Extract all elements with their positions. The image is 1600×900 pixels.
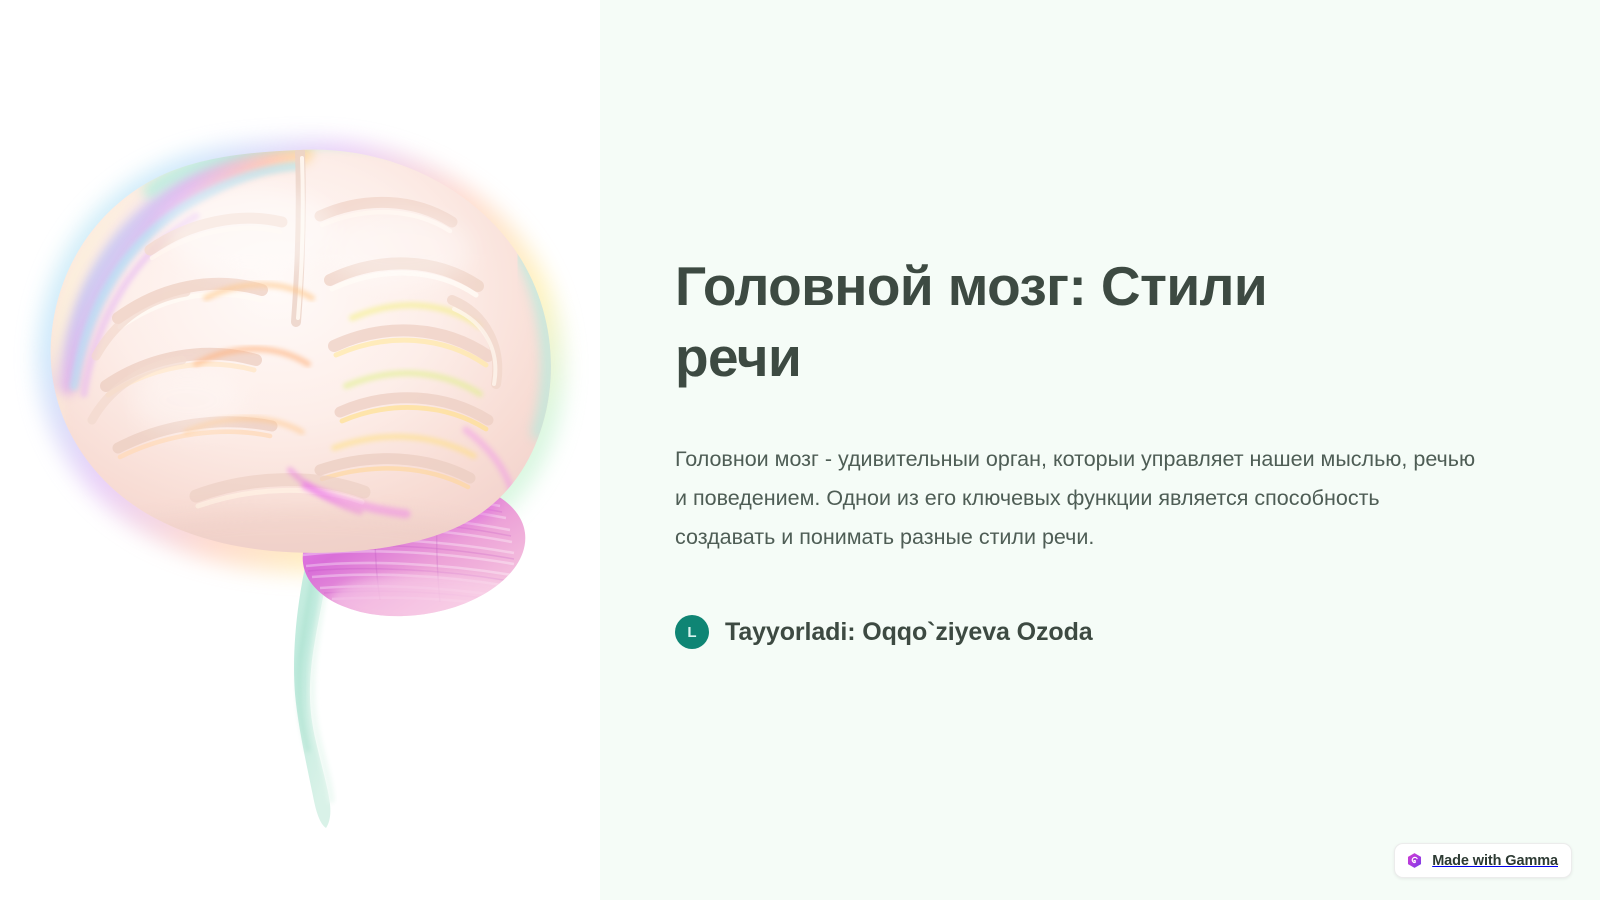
gamma-logo-icon (1406, 852, 1423, 869)
brain-illustration (0, 0, 600, 900)
image-panel (0, 0, 600, 900)
author-name: Tayyorladi: Oqqo`ziyeva Ozoda (725, 618, 1093, 647)
made-with-gamma-badge[interactable]: Made with Gamma (1394, 843, 1572, 878)
gamma-badge-label: Made with Gamma (1432, 853, 1558, 869)
brain-illustration-svg (0, 0, 600, 900)
slide-description: Головнои мозг - удивительныи орган, кото… (675, 440, 1485, 557)
content-panel: Головной мозг: Стили речи Головнои мозг … (600, 0, 1600, 900)
content-inner: Головной мозг: Стили речи Головнои мозг … (675, 251, 1500, 649)
slide: Головной мозг: Стили речи Головнои мозг … (0, 0, 1600, 900)
author-row: L Tayyorladi: Oqqo`ziyeva Ozoda (675, 615, 1500, 649)
avatar: L (675, 615, 709, 649)
page-title: Головной мозг: Стили речи (675, 251, 1405, 394)
